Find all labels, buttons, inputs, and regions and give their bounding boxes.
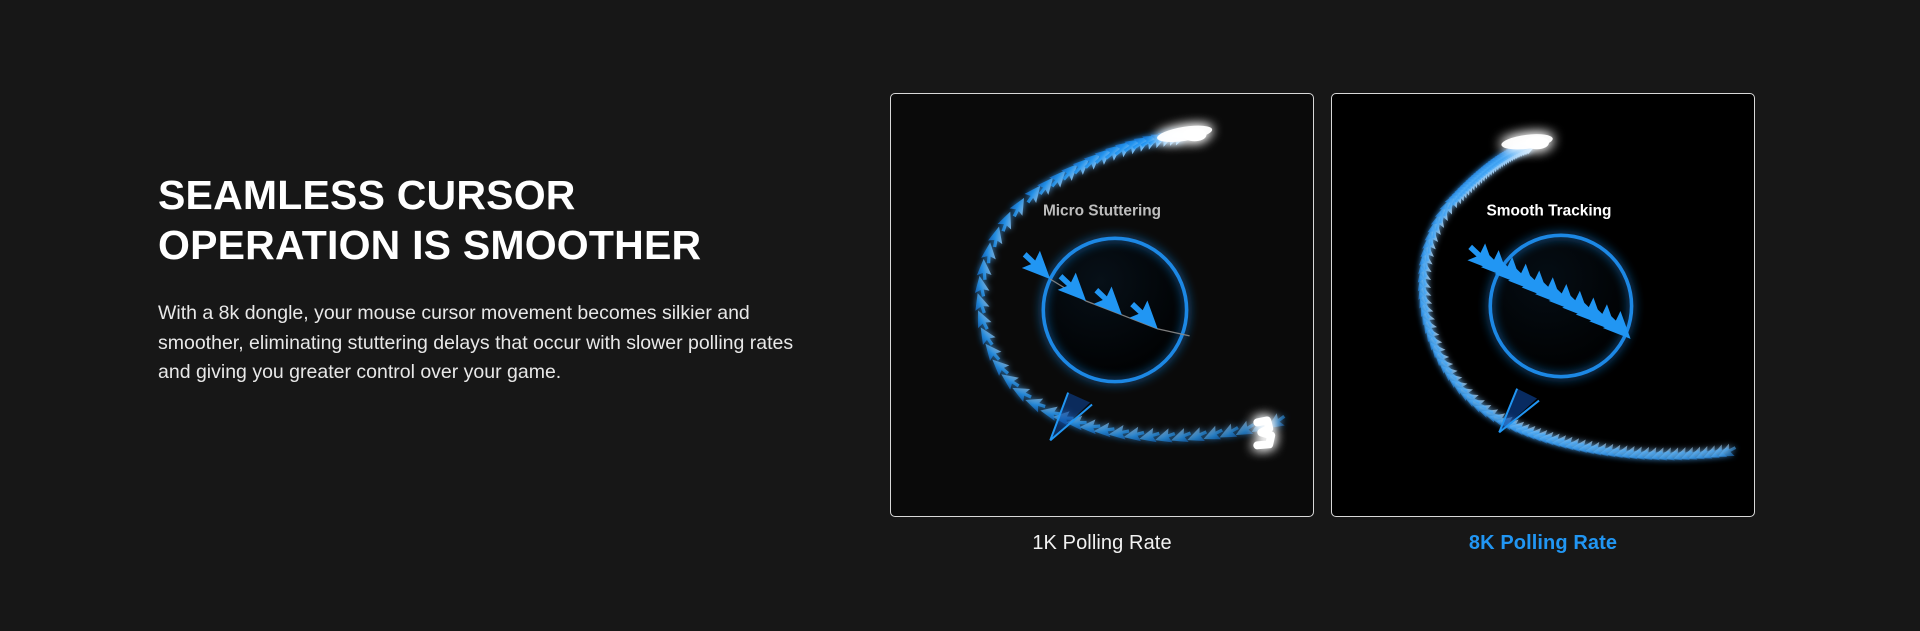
page-title: SEAMLESS CURSOR OPERATION IS SMOOTHER xyxy=(158,170,838,270)
page-title-line-1: SEAMLESS CURSOR xyxy=(158,170,838,220)
page-title-line-2: OPERATION IS SMOOTHER xyxy=(158,220,838,270)
hero-body-copy: With a 8k dongle, your mouse cursor move… xyxy=(158,299,818,388)
inline-label-low: Micro Stuttering xyxy=(1043,202,1161,219)
panel-caption-low: 1K Polling Rate xyxy=(1032,532,1171,555)
inline-label-high: Smooth Tracking xyxy=(1486,202,1611,219)
hero-text-column: SEAMLESS CURSOR OPERATION IS SMOOTHER Wi… xyxy=(158,170,838,388)
cursor-trail-panel-high: Smooth Tracking xyxy=(1331,93,1755,517)
cursor-trail-tail-low xyxy=(1257,420,1271,445)
magnifier-lens-high xyxy=(1463,235,1632,376)
cursor-trail-panel-low: Micro Stuttering xyxy=(890,93,1314,517)
magnifier-lens-low xyxy=(1017,238,1189,381)
panel-caption-high: 8K Polling Rate xyxy=(1469,532,1617,555)
polling-rate-comparison: Micro Stuttering 1K Polling Rate xyxy=(890,93,1755,555)
panel-group-low-polling: Micro Stuttering 1K Polling Rate xyxy=(890,93,1314,555)
panel-group-high-polling: Smooth Tracking 8K Polling Rate xyxy=(1331,93,1755,555)
